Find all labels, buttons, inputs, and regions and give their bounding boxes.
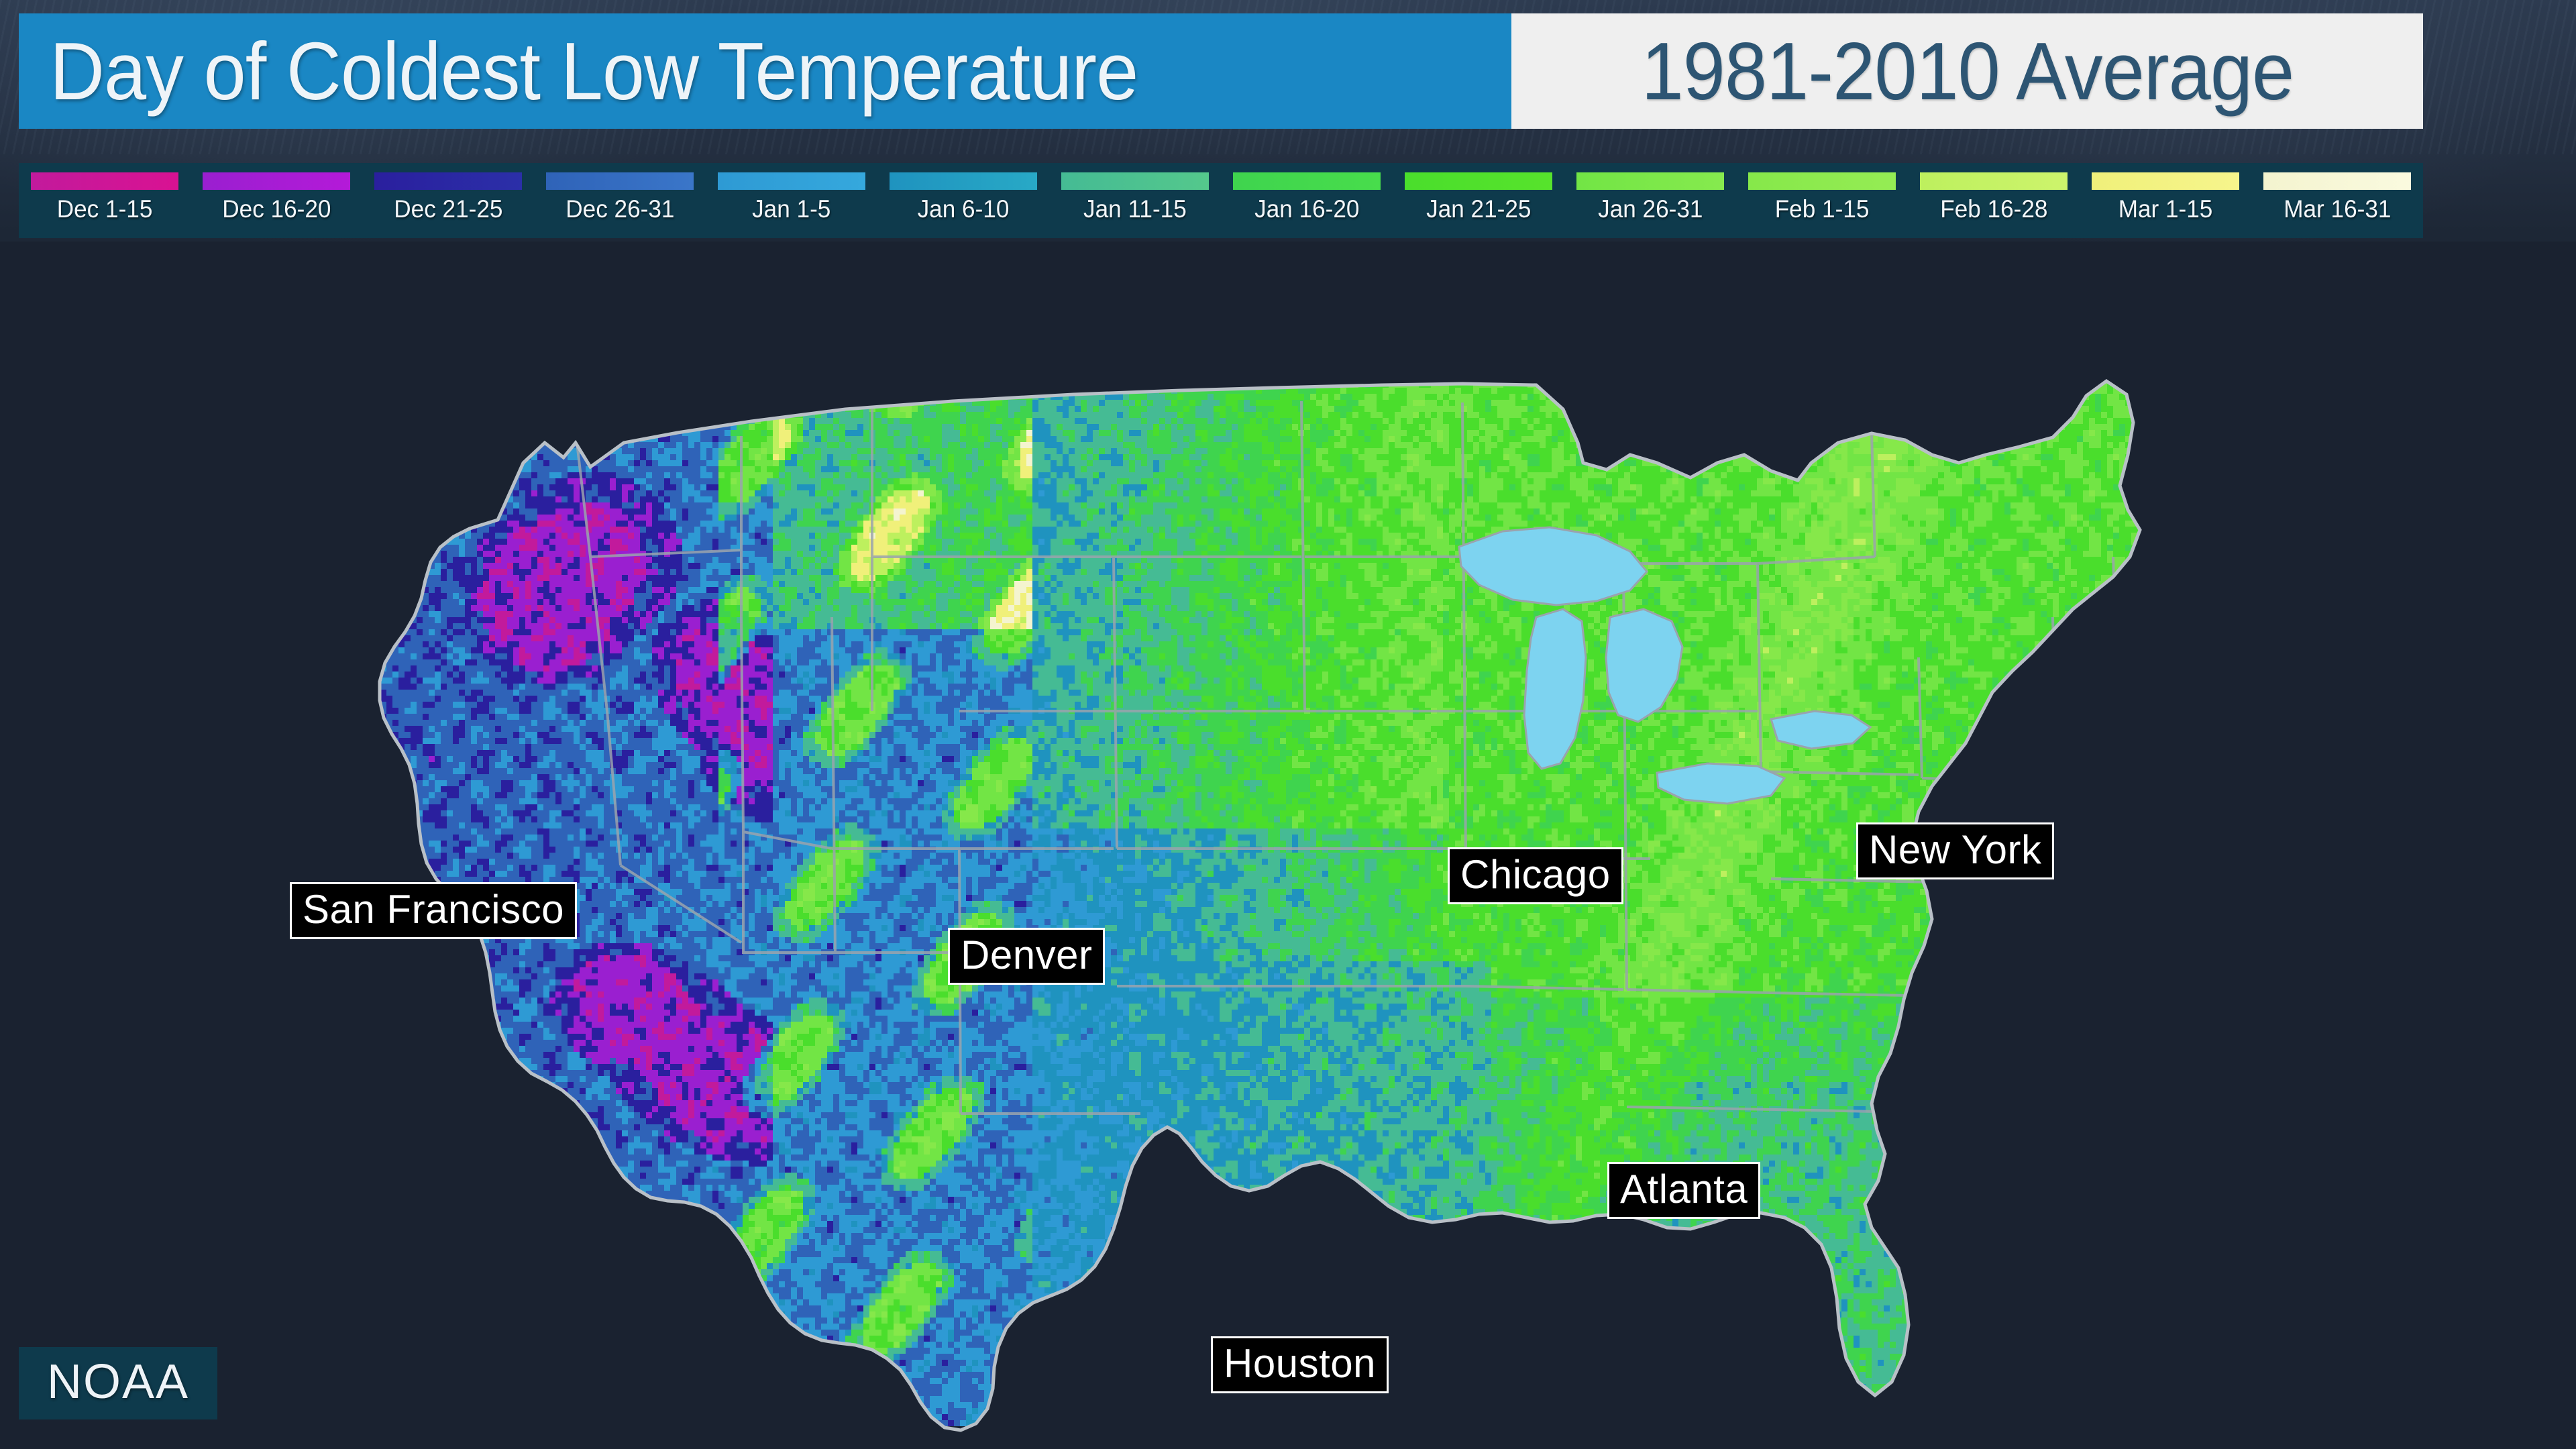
- noaa-label: NOAA: [47, 1355, 189, 1409]
- title-panel: Day of Coldest Low Temperature: [19, 13, 1511, 129]
- legend-item-6: Jan 11-15: [1049, 163, 1221, 238]
- city-label-text: San Francisco: [303, 889, 564, 930]
- legend-swatch-6: [1061, 172, 1209, 190]
- legend-swatch-1: [203, 172, 350, 190]
- legend-label-9: Jan 26-31: [1598, 197, 1703, 221]
- noaa-attribution: NOAA: [19, 1347, 217, 1419]
- color-legend: Dec 1-15Dec 16-20Dec 21-25Dec 26-31Jan 1…: [19, 163, 2423, 238]
- legend-item-3: Dec 26-31: [534, 163, 706, 238]
- weather-map-page: Day of Coldest Low Temperature 1981-2010…: [0, 0, 2576, 1449]
- legend-swatch-0: [31, 172, 178, 190]
- subtitle-panel: 1981-2010 Average: [1511, 13, 2423, 129]
- legend-label-2: Dec 21-25: [394, 197, 502, 221]
- legend-swatch-9: [1576, 172, 1724, 190]
- legend-label-7: Jan 16-20: [1254, 197, 1359, 221]
- legend-item-9: Jan 26-31: [1564, 163, 1736, 238]
- legend-swatch-12: [2092, 172, 2239, 190]
- legend-item-2: Dec 21-25: [362, 163, 534, 238]
- legend-item-11: Feb 16-28: [1908, 163, 2080, 238]
- city-label-new-york[interactable]: New York: [1856, 822, 2054, 879]
- legend-item-4: Jan 1-5: [706, 163, 877, 238]
- map-canvas: [0, 241, 2576, 1449]
- legend-item-7: Jan 16-20: [1221, 163, 1393, 238]
- city-label-text: Houston: [1224, 1343, 1376, 1384]
- legend-swatch-13: [2263, 172, 2411, 190]
- legend-label-6: Jan 11-15: [1083, 197, 1187, 221]
- legend-swatch-4: [718, 172, 865, 190]
- legend-swatch-5: [890, 172, 1037, 190]
- legend-label-12: Mar 1-15: [2118, 197, 2213, 221]
- legend-label-1: Dec 16-20: [222, 197, 331, 221]
- city-label-text: New York: [1869, 829, 2041, 870]
- city-label-text: Atlanta: [1620, 1169, 1748, 1210]
- legend-item-5: Jan 6-10: [877, 163, 1049, 238]
- city-label-san-francisco[interactable]: San Francisco: [290, 882, 577, 939]
- page-title: Day of Coldest Low Temperature: [50, 30, 1138, 112]
- legend-label-13: Mar 16-31: [2284, 197, 2391, 221]
- legend-label-3: Dec 26-31: [566, 197, 674, 221]
- legend-item-12: Mar 1-15: [2080, 163, 2251, 238]
- legend-label-11: Feb 16-28: [1940, 197, 2047, 221]
- city-label-text: Chicago: [1460, 854, 1611, 895]
- legend-label-5: Jan 6-10: [918, 197, 1010, 221]
- city-label-text: Denver: [961, 934, 1092, 975]
- city-label-denver[interactable]: Denver: [948, 928, 1105, 985]
- city-label-chicago[interactable]: Chicago: [1448, 847, 1623, 904]
- legend-label-4: Jan 1-5: [752, 197, 830, 221]
- legend-item-13: Mar 16-31: [2251, 163, 2423, 238]
- legend-swatch-3: [546, 172, 694, 190]
- legend-item-10: Feb 1-15: [1736, 163, 1908, 238]
- legend-item-0: Dec 1-15: [19, 163, 191, 238]
- legend-swatch-8: [1405, 172, 1552, 190]
- page-subtitle: 1981-2010 Average: [1641, 30, 2294, 112]
- legend-swatch-2: [374, 172, 522, 190]
- us-choropleth-map: [0, 241, 2576, 1449]
- legend-item-8: Jan 21-25: [1393, 163, 1564, 238]
- legend-label-8: Jan 21-25: [1426, 197, 1531, 221]
- legend-swatch-10: [1748, 172, 1896, 190]
- legend-label-0: Dec 1-15: [57, 197, 153, 221]
- header-bar: Day of Coldest Low Temperature 1981-2010…: [19, 13, 2423, 129]
- legend-label-10: Feb 1-15: [1775, 197, 1870, 221]
- legend-swatch-11: [1920, 172, 2068, 190]
- legend-swatch-7: [1233, 172, 1381, 190]
- legend-item-1: Dec 16-20: [191, 163, 362, 238]
- city-label-atlanta[interactable]: Atlanta: [1607, 1162, 1760, 1219]
- city-label-houston[interactable]: Houston: [1211, 1336, 1389, 1393]
